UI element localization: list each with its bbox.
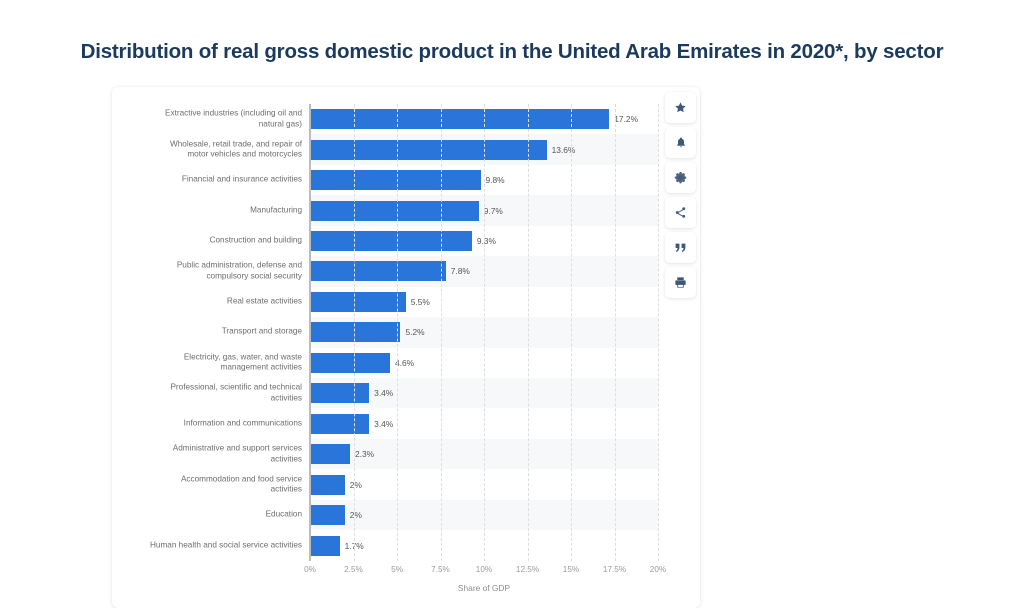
bar-value-label: 7.8% [451, 266, 470, 276]
category-label: Manufacturing [112, 205, 302, 216]
category-label: Financial and insurance activities [112, 175, 302, 186]
share-icon [674, 206, 687, 219]
category-label: Human health and social service activiti… [112, 540, 302, 551]
x-tick-label: 20% [650, 565, 666, 574]
bar-row[interactable]: Extractive industries (including oil and… [112, 104, 658, 134]
x-axis-ticks: 0%2.5%5%7.5%10%12.5%15%17.5%20% [310, 565, 658, 581]
bar-value-label: 3.4% [374, 388, 393, 398]
x-tick-label: 0% [304, 565, 316, 574]
bar-value-label: 17.2% [614, 114, 638, 124]
category-label: Extractive industries (including oil and… [112, 109, 302, 130]
bar-value-label: 1.7% [345, 541, 364, 551]
category-label: Transport and storage [112, 327, 302, 338]
bar[interactable] [310, 322, 400, 342]
chart-plot-area: Extractive industries (including oil and… [112, 87, 700, 608]
gear-icon [674, 171, 687, 184]
category-label: Real estate activities [112, 297, 302, 308]
bar-value-label: 4.6% [395, 358, 414, 368]
category-label: Administrative and support services acti… [112, 444, 302, 465]
settings-gear-button[interactable] [665, 162, 696, 193]
bar[interactable] [310, 414, 369, 434]
bar[interactable] [310, 170, 481, 190]
bar-value-label: 9.7% [484, 206, 503, 216]
bar[interactable] [310, 383, 369, 403]
x-tick-label: 2.5% [344, 565, 363, 574]
bar-row[interactable]: Transport and storage5.2% [112, 317, 658, 347]
bar-row[interactable]: Education2% [112, 500, 658, 530]
bar-row[interactable]: Wholesale, retail trade, and repair of m… [112, 134, 658, 164]
chart-toolbar[interactable] [665, 92, 709, 302]
bar-row[interactable]: Administrative and support services acti… [112, 439, 658, 469]
bar[interactable] [310, 536, 340, 556]
bar[interactable] [310, 140, 547, 160]
category-label: Public administration, defense and compu… [112, 261, 302, 282]
gridline [658, 104, 659, 561]
bar-value-label: 2.3% [355, 449, 374, 459]
favorite-star-button[interactable] [665, 92, 696, 123]
bar[interactable] [310, 444, 350, 464]
category-label: Accommodation and food service activitie… [112, 474, 302, 495]
bar[interactable] [310, 292, 406, 312]
category-label: Information and communications [112, 418, 302, 429]
bell-icon [675, 136, 687, 149]
bar-value-label: 2% [350, 510, 362, 520]
bar-value-label: 3.4% [374, 419, 393, 429]
bar-value-label: 9.8% [486, 175, 505, 185]
citation-quote-button[interactable] [665, 232, 696, 263]
share-button[interactable] [665, 197, 696, 228]
bar[interactable] [310, 231, 472, 251]
category-label: Education [112, 510, 302, 521]
y-axis-line [309, 104, 311, 561]
category-label: Wholesale, retail trade, and repair of m… [112, 139, 302, 160]
print-icon [674, 276, 687, 289]
bar-row[interactable]: Accommodation and food service activitie… [112, 469, 658, 499]
chart-card: Extractive industries (including oil and… [112, 87, 700, 608]
bar-row[interactable]: Manufacturing9.7% [112, 195, 658, 225]
category-label: Construction and building [112, 236, 302, 247]
bar[interactable] [310, 261, 446, 281]
bar-row[interactable]: Professional, scientific and technical a… [112, 378, 658, 408]
bar-row[interactable]: Public administration, defense and compu… [112, 256, 658, 286]
bar-value-label: 5.5% [411, 297, 430, 307]
x-tick-label: 10% [476, 565, 492, 574]
page-title: Distribution of real gross domestic prod… [0, 40, 1024, 64]
bar[interactable] [310, 505, 345, 525]
x-axis-title: Share of GDP [310, 583, 658, 593]
bar-row[interactable]: Electricity, gas, water, and waste manag… [112, 348, 658, 378]
bar-row[interactable]: Human health and social service activiti… [112, 530, 658, 560]
x-tick-label: 7.5% [431, 565, 450, 574]
x-tick-label: 5% [391, 565, 403, 574]
bar-row[interactable]: Construction and building9.3% [112, 226, 658, 256]
x-tick-label: 15% [563, 565, 579, 574]
notification-bell-button[interactable] [665, 127, 696, 158]
x-tick-label: 12.5% [516, 565, 539, 574]
row-band [310, 500, 658, 530]
bar-value-label: 9.3% [477, 236, 496, 246]
star-icon [674, 101, 687, 114]
bar-row[interactable]: Financial and insurance activities9.8% [112, 165, 658, 195]
bar[interactable] [310, 475, 345, 495]
bar-value-label: 5.2% [405, 327, 424, 337]
category-label: Electricity, gas, water, and waste manag… [112, 352, 302, 373]
quote-icon [674, 243, 687, 253]
bar-row[interactable]: Real estate activities5.5% [112, 287, 658, 317]
row-band [310, 469, 658, 499]
x-tick-label: 17.5% [603, 565, 626, 574]
bar[interactable] [310, 109, 609, 129]
category-label: Professional, scientific and technical a… [112, 383, 302, 404]
print-button[interactable] [665, 267, 696, 298]
bar-row[interactable]: Information and communications3.4% [112, 409, 658, 439]
bar-value-label: 2% [350, 480, 362, 490]
bar-value-label: 13.6% [552, 145, 576, 155]
bar[interactable] [310, 201, 479, 221]
bar[interactable] [310, 353, 390, 373]
